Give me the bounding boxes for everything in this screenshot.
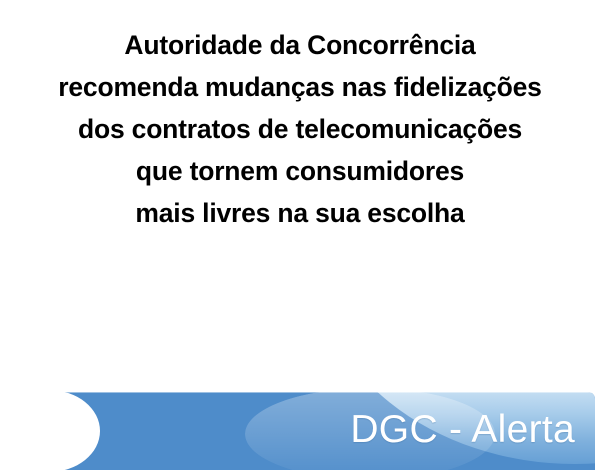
headline-line-5: mais livres na sua escolha (0, 192, 600, 234)
headline-line-3: dos contratos de telecomunicações (0, 108, 600, 150)
banner-title-label: DGC - Alerta (350, 408, 575, 452)
headline-text-block: Autoridade da Concorrência recomenda mud… (0, 24, 600, 234)
bottom-banner: DGC - Alerta (60, 392, 595, 470)
headline-line-1: Autoridade da Concorrência (0, 24, 600, 66)
headline-line-2: recomenda mudanças nas fidelizações (0, 66, 600, 108)
headline-line-4: que tornem consumidores (0, 150, 600, 192)
banner-top-hairline (60, 392, 595, 393)
slide-canvas: Autoridade da Concorrência recomenda mud… (0, 0, 600, 470)
banner-left-ellipse-notch (0, 390, 100, 470)
